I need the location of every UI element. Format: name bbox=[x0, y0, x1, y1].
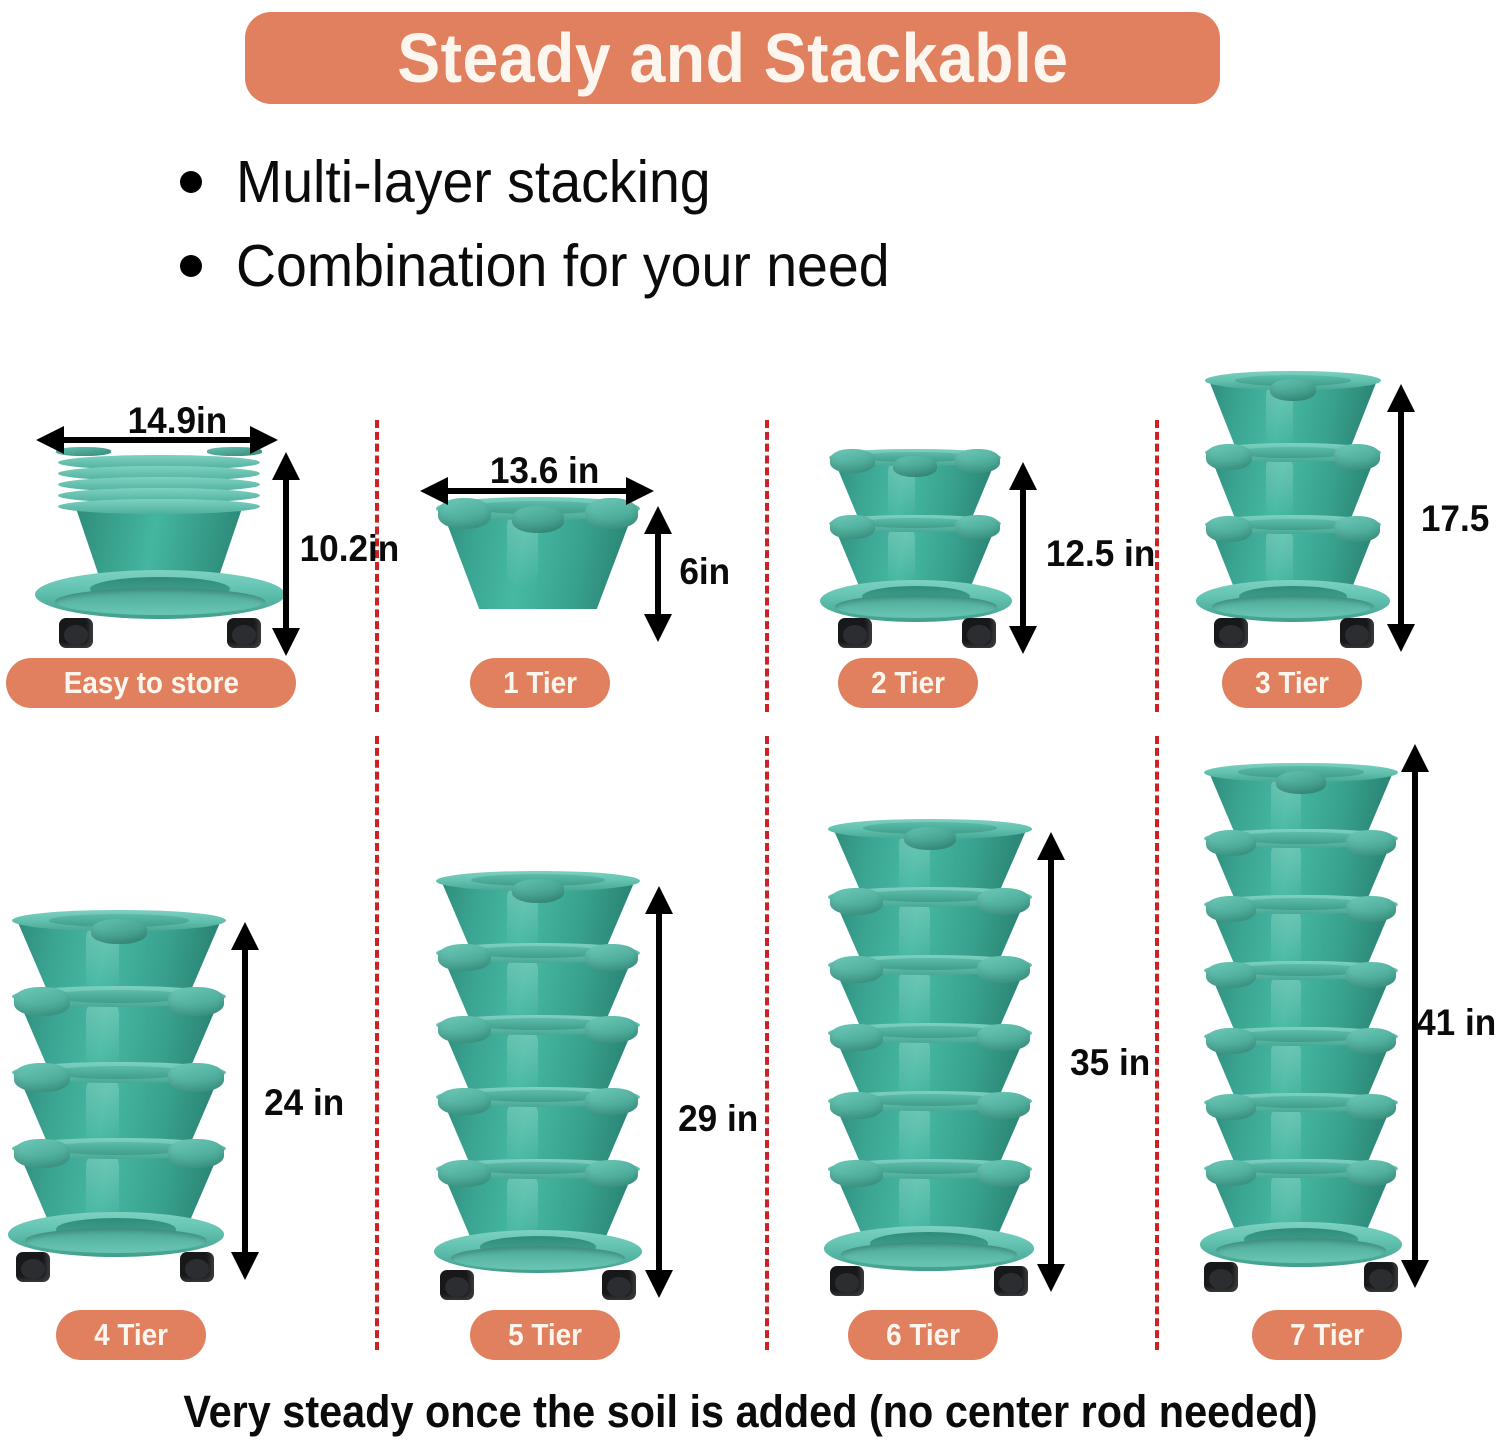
caster-wheel bbox=[1364, 1262, 1398, 1292]
base-groove bbox=[55, 588, 265, 615]
pot-side-cup bbox=[1334, 516, 1380, 542]
bullet-dot-icon bbox=[180, 171, 202, 193]
pot-side-cup bbox=[438, 1016, 491, 1044]
caster-wheel bbox=[1340, 618, 1374, 648]
arrow-head-up-icon bbox=[644, 506, 672, 534]
pot-side-cup bbox=[830, 515, 875, 539]
product-label-badge: 3 Tier bbox=[1222, 658, 1362, 708]
pot-center-cup bbox=[91, 919, 147, 944]
arrow-head-down-icon bbox=[645, 1270, 673, 1298]
pot-center-cup bbox=[1276, 771, 1326, 794]
pot-side-cup bbox=[56, 447, 111, 456]
caster-wheel bbox=[830, 1266, 864, 1296]
base-groove bbox=[1216, 1238, 1386, 1263]
pot-side-cup bbox=[14, 1063, 70, 1092]
pot-center-cup bbox=[1270, 379, 1316, 401]
pot-side-cup bbox=[1346, 962, 1396, 988]
product-label: 2 Tier bbox=[871, 665, 945, 701]
caster-base bbox=[820, 580, 1012, 638]
pot-stack bbox=[16, 918, 222, 1238]
pot-side-cup bbox=[977, 888, 1030, 915]
product-label-badge: 5 Tier bbox=[470, 1310, 620, 1360]
arrow-head-up-icon bbox=[1009, 462, 1037, 490]
column-divider bbox=[1155, 736, 1159, 1350]
product-label: Easy to store bbox=[63, 665, 238, 701]
pot-highlight bbox=[888, 526, 915, 585]
product-label: 1 Tier bbox=[503, 665, 577, 701]
product-label-badge: 4 Tier bbox=[56, 1310, 206, 1360]
pot-highlight bbox=[507, 956, 538, 1024]
footer-caption-text: Very steady once the soil is added (no c… bbox=[183, 1386, 1317, 1438]
arrow-head-down-icon bbox=[1387, 624, 1415, 652]
arrow-head-down-icon bbox=[1401, 1260, 1429, 1288]
bullet-dot-icon bbox=[180, 255, 202, 277]
pot-side-cup bbox=[955, 449, 1000, 473]
caster-base bbox=[434, 1230, 642, 1290]
arrow-head-up-icon bbox=[1387, 384, 1415, 412]
pot-side-cup bbox=[1334, 444, 1380, 470]
pot-side-cup bbox=[585, 1016, 638, 1044]
pot-side-cup bbox=[977, 1160, 1030, 1187]
caster-wheel bbox=[1214, 618, 1248, 648]
caster-base bbox=[1196, 580, 1390, 638]
pot-center-cup bbox=[893, 456, 938, 477]
pot-side-cup bbox=[1346, 1094, 1396, 1120]
pot-highlight bbox=[1266, 455, 1293, 519]
height-dimension-label: 29 in bbox=[678, 1098, 758, 1140]
arrow-head-up-icon bbox=[1037, 832, 1065, 860]
pot-tier bbox=[440, 505, 636, 609]
pot-side-cup bbox=[1206, 830, 1256, 856]
bullet-label: Combination for your need bbox=[236, 232, 890, 300]
caster-wheel bbox=[227, 618, 261, 648]
pot-side-cup bbox=[1206, 962, 1256, 988]
caster-wheel bbox=[994, 1266, 1028, 1296]
caster-wheel bbox=[962, 618, 996, 648]
page-title: Steady and Stackable bbox=[397, 18, 1068, 98]
height-dimension-label: 24 in bbox=[264, 1082, 344, 1124]
arrow-head-down-icon bbox=[644, 614, 672, 642]
arrow-head-down-icon bbox=[272, 628, 300, 656]
arrow-head-down-icon bbox=[231, 1252, 259, 1280]
arrow-head-left-icon bbox=[420, 477, 448, 505]
width-dimension-label: 14.9in bbox=[128, 400, 228, 442]
product-label: 7 Tier bbox=[1290, 1317, 1364, 1353]
arrow-head-right-icon bbox=[250, 426, 278, 454]
column-divider bbox=[1155, 420, 1159, 712]
pot-side-cup bbox=[585, 944, 638, 972]
pot-tier bbox=[58, 449, 260, 479]
pot-stack bbox=[1208, 770, 1394, 1252]
arrow-head-up-icon bbox=[1401, 744, 1429, 772]
height-dimension-label: 12.5 in bbox=[1046, 533, 1155, 575]
pot-side-cup bbox=[830, 1092, 883, 1119]
caster-wheel bbox=[602, 1270, 636, 1300]
arrow-head-up-icon bbox=[231, 922, 259, 950]
arrow-head-left-icon bbox=[36, 426, 64, 454]
width-dimension-label: 13.6 in bbox=[490, 450, 599, 492]
caster-base bbox=[35, 570, 285, 638]
base-groove bbox=[25, 1228, 206, 1253]
pot-side-cup bbox=[830, 449, 875, 473]
caster-wheel bbox=[16, 1252, 50, 1282]
pot-side-cup bbox=[168, 1063, 224, 1092]
pot-side-cup bbox=[1206, 1028, 1256, 1054]
product-label-badge: Easy to store bbox=[6, 658, 296, 708]
pot-side-cup bbox=[1346, 896, 1396, 922]
pot-center-cup bbox=[512, 506, 565, 533]
height-dimension-label: 41 in bbox=[1416, 1002, 1496, 1044]
caster-base bbox=[824, 1226, 1034, 1288]
pot-side-cup bbox=[977, 1092, 1030, 1119]
base-groove bbox=[835, 595, 996, 618]
height-dimension-label: 10.2in bbox=[300, 528, 400, 570]
product-label-badge: 7 Tier bbox=[1252, 1310, 1402, 1360]
pot-highlight bbox=[86, 1076, 119, 1147]
pot-side-cup bbox=[14, 1139, 70, 1168]
pot-side-cup bbox=[830, 956, 883, 983]
pot-highlight bbox=[507, 1100, 538, 1168]
list-item: Multi-layer stacking bbox=[180, 140, 1280, 224]
pot-side-cup bbox=[1206, 896, 1256, 922]
column-divider bbox=[765, 736, 769, 1350]
pot-side-cup bbox=[438, 1088, 491, 1116]
pot-side-cup bbox=[955, 515, 1000, 539]
pot-side-cup bbox=[1206, 516, 1252, 542]
title-badge: Steady and Stackable bbox=[245, 12, 1220, 104]
pot-side-cup bbox=[977, 956, 1030, 983]
pot-side-cup bbox=[1346, 1160, 1396, 1186]
footer-caption: Very steady once the soil is added (no c… bbox=[0, 1386, 1500, 1438]
height-dimension-label: 35 in bbox=[1070, 1042, 1150, 1084]
arrow-head-right-icon bbox=[626, 477, 654, 505]
base-groove bbox=[451, 1246, 626, 1270]
feature-bullet-list: Multi-layer stacking Combination for you… bbox=[180, 140, 1280, 308]
pot-side-cup bbox=[438, 1160, 491, 1188]
caster-wheel bbox=[1204, 1262, 1238, 1292]
caster-wheel bbox=[180, 1252, 214, 1282]
product-label: 6 Tier bbox=[886, 1317, 960, 1353]
pot-stack bbox=[440, 505, 636, 615]
height-dimension-label: 17.5 in bbox=[1421, 498, 1500, 540]
arrow-head-down-icon bbox=[1009, 626, 1037, 654]
pot-side-cup bbox=[168, 987, 224, 1016]
caster-base bbox=[1200, 1222, 1402, 1284]
pot-highlight bbox=[507, 1028, 538, 1096]
pot-side-cup bbox=[438, 944, 491, 972]
caster-wheel bbox=[59, 618, 93, 648]
list-item: Combination for your need bbox=[180, 224, 1280, 308]
pot-stack bbox=[1208, 378, 1378, 608]
arrow-head-up-icon bbox=[645, 886, 673, 914]
pot-side-cup bbox=[1206, 1094, 1256, 1120]
pot-side-cup bbox=[585, 1088, 638, 1116]
bullet-label: Multi-layer stacking bbox=[236, 148, 711, 216]
pot-side-cup bbox=[830, 888, 883, 915]
caster-wheel bbox=[440, 1270, 474, 1300]
pot-side-cup bbox=[1206, 1160, 1256, 1186]
pot-side-cup bbox=[1206, 444, 1252, 470]
pot-side-cup bbox=[585, 1160, 638, 1188]
product-label-badge: 1 Tier bbox=[470, 658, 610, 708]
caster-wheel bbox=[838, 618, 872, 648]
product-label-badge: 2 Tier bbox=[838, 658, 978, 708]
product-label-badge: 6 Tier bbox=[848, 1310, 998, 1360]
product-label: 5 Tier bbox=[508, 1317, 582, 1353]
column-divider bbox=[765, 420, 769, 712]
pot-side-cup bbox=[1346, 1028, 1396, 1054]
pot-side-cup bbox=[1346, 830, 1396, 856]
arrow-head-down-icon bbox=[1037, 1264, 1065, 1292]
pot-side-cup bbox=[14, 987, 70, 1016]
pot-side-cup bbox=[830, 1160, 883, 1187]
pot-center-cup bbox=[904, 827, 957, 850]
caster-base bbox=[8, 1212, 224, 1274]
pot-rim bbox=[58, 499, 260, 514]
pot-stack bbox=[440, 878, 636, 1256]
pot-stack bbox=[832, 826, 1028, 1254]
pot-center-cup bbox=[512, 879, 565, 903]
arrow-head-up-icon bbox=[272, 452, 300, 480]
height-dimension-label: 6in bbox=[679, 551, 730, 593]
product-label: 4 Tier bbox=[94, 1317, 168, 1353]
pot-side-cup bbox=[830, 1024, 883, 1051]
column-divider bbox=[375, 736, 379, 1350]
pot-side-cup bbox=[977, 1024, 1030, 1051]
product-label: 3 Tier bbox=[1255, 665, 1329, 701]
pot-side-cup bbox=[168, 1139, 224, 1168]
base-groove bbox=[841, 1242, 1017, 1267]
pot-highlight bbox=[86, 1000, 119, 1071]
